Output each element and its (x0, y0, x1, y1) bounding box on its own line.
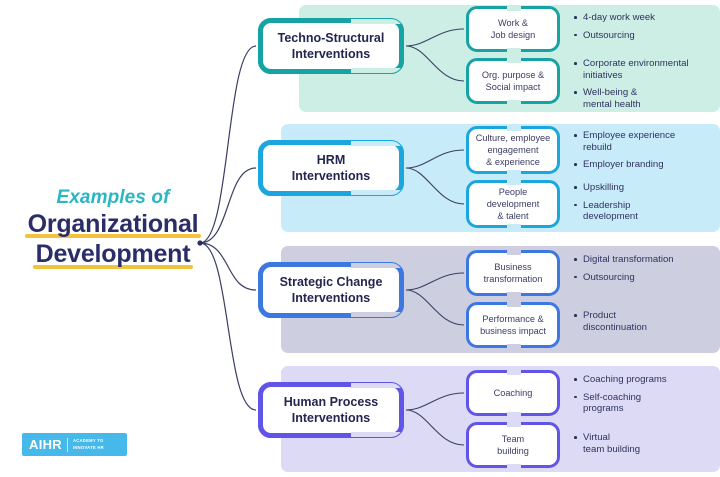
sub-node-human-process-1[interactable]: Team building (466, 422, 560, 468)
node-frame-gap-top (351, 261, 401, 268)
bullet-list-hrm-0: Employee experience rebuildEmployer bran… (573, 130, 713, 171)
sub-node-label: Org. purpose & Social impact (477, 69, 549, 93)
bullet-item: Virtual team building (573, 432, 713, 455)
bullet-item: Upskilling (573, 182, 713, 194)
sub-node-label: Business transformation (479, 261, 548, 285)
sub-node-label: Culture, employee engagement & experienc… (471, 132, 556, 169)
sub-node-strategic-change-0[interactable]: Business transformation (466, 250, 560, 296)
logo-tagline-line-1: ACADEMY TO (73, 438, 104, 444)
sub-node-frame-gap-top (507, 179, 520, 185)
bullet-list-techno-structural-0: 4-day work weekOutsourcing (573, 12, 713, 41)
sub-node-techno-structural-1[interactable]: Org. purpose & Social impact (466, 58, 560, 104)
hub-node (197, 240, 202, 245)
bullet-item: Outsourcing (573, 272, 713, 284)
diagram-canvas: Examples of Organizational Development T… (0, 0, 720, 477)
sub-node-hrm-1[interactable]: People development & talent (466, 180, 560, 228)
bullet-list-human-process-1: Virtual team building (573, 432, 713, 455)
bullet-list-hrm-1: UpskillingLeadership development (573, 182, 713, 223)
node-frame-gap-top (351, 381, 401, 388)
sub-node-strategic-change-1[interactable]: Performance & business impact (466, 302, 560, 348)
sub-node-frame-gap-top (507, 125, 520, 131)
sub-node-frame-gap-top (507, 421, 520, 427)
sub-node-techno-structural-0[interactable]: Work & Job design (466, 6, 560, 52)
sub-node-frame-gap-top (507, 301, 520, 307)
bullet-item: Leadership development (573, 200, 713, 223)
bullet-item: Well-being & mental health (573, 87, 713, 110)
bullet-item: Employer branding (573, 159, 713, 171)
logo-tagline-line-2: INNOVATE HR (73, 445, 104, 451)
bullet-list-strategic-change-1: Product discontinuation (573, 310, 713, 333)
logo-divider (67, 438, 68, 452)
sub-node-label: Team building (492, 433, 534, 457)
bullet-item: Coaching programs (573, 374, 713, 386)
main-node-label: Human Process Interventions (277, 394, 385, 426)
bullet-list-techno-structural-1: Corporate environmental initiativesWell-… (573, 58, 713, 111)
node-frame-gap-top (351, 139, 401, 146)
sub-node-frame-gap-top (507, 5, 520, 11)
sub-node-frame-gap-top (507, 369, 520, 375)
main-node-techno-structural[interactable]: Techno-Structural Interventions (258, 18, 404, 74)
main-node-label: Strategic Change Interventions (273, 274, 390, 306)
bullet-item: Self-coaching programs (573, 392, 713, 415)
sub-node-human-process-0[interactable]: Coaching (466, 370, 560, 416)
sub-node-frame-gap-top (507, 249, 520, 255)
sub-node-label: Coaching (489, 387, 538, 399)
main-node-label: Techno-Structural Interventions (271, 30, 392, 62)
aihr-logo: AIHR ACADEMY TO INNOVATE HR (22, 433, 127, 456)
main-node-hrm[interactable]: HRM Interventions (258, 140, 404, 196)
bullet-item: Product discontinuation (573, 310, 713, 333)
node-frame-gap-top (351, 17, 401, 24)
bullet-item: Digital transformation (573, 254, 713, 266)
logo-wordmark: AIHR (22, 437, 62, 452)
sub-node-label: Performance & business impact (475, 313, 551, 337)
main-node-human-process[interactable]: Human Process Interventions (258, 382, 404, 438)
sub-node-label: People development & talent (482, 186, 545, 223)
bullet-item: Employee experience rebuild (573, 130, 713, 153)
sub-node-frame-gap-top (507, 57, 520, 63)
bullet-item: Outsourcing (573, 30, 713, 42)
bullet-list-human-process-0: Coaching programsSelf-coaching programs (573, 374, 713, 415)
sub-node-hrm-0[interactable]: Culture, employee engagement & experienc… (466, 126, 560, 174)
bullet-item: 4-day work week (573, 12, 713, 24)
bullet-item: Corporate environmental initiatives (573, 58, 713, 81)
main-node-strategic-change[interactable]: Strategic Change Interventions (258, 262, 404, 318)
logo-tagline: ACADEMY TO INNOVATE HR (73, 438, 104, 450)
main-node-label: HRM Interventions (285, 152, 378, 184)
sub-node-label: Work & Job design (486, 17, 540, 41)
bullet-list-strategic-change-0: Digital transformationOutsourcing (573, 254, 713, 283)
